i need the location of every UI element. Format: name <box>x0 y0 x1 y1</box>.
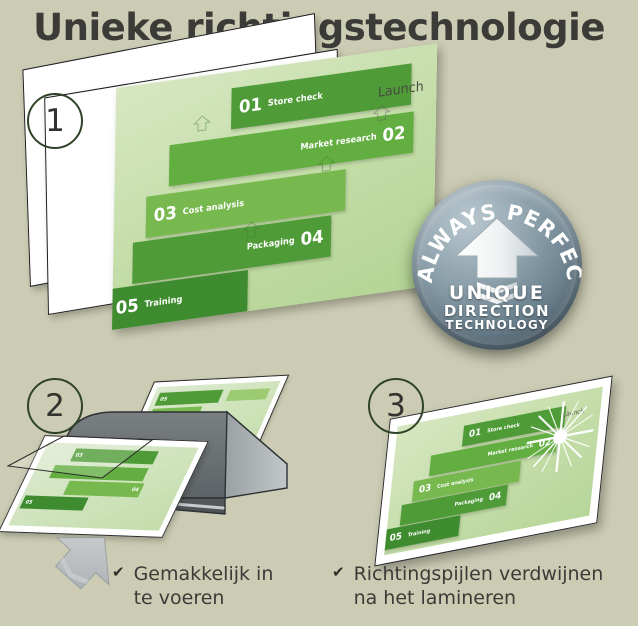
doc-bar-label: Store check <box>268 91 323 109</box>
caption-line-1: Richtingspijlen verdwijnen <box>354 563 604 585</box>
direction-arrow-watermark-icon <box>372 103 392 122</box>
doc-bar-number: 03 <box>418 483 431 496</box>
caption-line-2: te voeren <box>134 587 225 609</box>
doc-bar-number: 04 <box>488 491 501 504</box>
check-icon: ✔ <box>112 562 125 582</box>
step-number-3: 3 <box>368 378 424 434</box>
doc-bar-number: 05 <box>115 295 138 319</box>
infographic-root: Unieke richtingstechnologie 01 Store che… <box>0 0 638 626</box>
caption-text: Richtingspijlen verdwijnen na het lamine… <box>354 562 604 611</box>
step-number-1: 1 <box>27 93 83 149</box>
always-perfect-badge: ALWAYS PERFECT! UNIQUE DIRECTION <box>412 180 582 350</box>
doc-bar-label: Cost analysis <box>437 477 474 490</box>
doc-bar-number: 03 <box>154 203 177 227</box>
doc-bar-number: 04 <box>300 226 323 250</box>
doc-bar-number: 01 <box>239 95 262 119</box>
step-number-label: 3 <box>386 388 406 424</box>
badge-tagline: UNIQUE DIRECTION TECHNOLOGY <box>412 284 582 332</box>
step-number-2: 2 <box>27 378 83 434</box>
printed-document: 01 Store check 02 Market research 03 Cos… <box>112 43 437 330</box>
mini-bar <box>226 388 270 401</box>
doc-bar-label: Market research <box>300 132 376 153</box>
pouch-flap-outline <box>6 432 156 492</box>
mini-bar: 05 <box>19 496 89 511</box>
check-icon: ✔ <box>332 562 345 582</box>
doc-bar-number: 01 <box>468 428 481 441</box>
caption-line-1: Gemakkelijk in <box>134 563 274 585</box>
step-number-label: 1 <box>45 103 65 139</box>
doc-bar-label: Packaging <box>247 236 295 253</box>
caption-step-2: ✔ Gemakkelijk in te voeren <box>112 562 342 611</box>
direction-arrow-watermark-icon <box>242 220 262 239</box>
doc-bar-label: Training <box>407 528 430 539</box>
direction-arrow-watermark-icon <box>192 113 212 132</box>
doc-bar-label: Cost analysis <box>183 199 245 218</box>
caption-line-2: na het lamineren <box>354 587 517 609</box>
badge-line-1: UNIQUE <box>412 284 582 304</box>
caption-text: Gemakkelijk in te voeren <box>134 562 274 611</box>
shine-sparkle-icon <box>522 394 598 480</box>
direction-arrow-watermark-icon <box>316 154 336 173</box>
doc-bar-number: 02 <box>382 123 405 147</box>
doc-bar-label: Store check <box>487 422 520 435</box>
doc-bar-label: Packaging <box>454 496 483 508</box>
caption-step-3: ✔ Richtingspijlen verdwijnen na het lami… <box>332 562 632 611</box>
page-title: Unieke richtingstechnologie <box>0 6 638 49</box>
doc-bar-label: Training <box>144 295 182 311</box>
doc-bar-number: 05 <box>389 532 402 545</box>
badge-line-3: TECHNOLOGY <box>412 319 582 332</box>
step-number-label: 2 <box>45 388 65 424</box>
badge-line-2: DIRECTION <box>412 304 582 320</box>
panel-step-1: 01 Store check 02 Market research 03 Cos… <box>0 55 638 345</box>
